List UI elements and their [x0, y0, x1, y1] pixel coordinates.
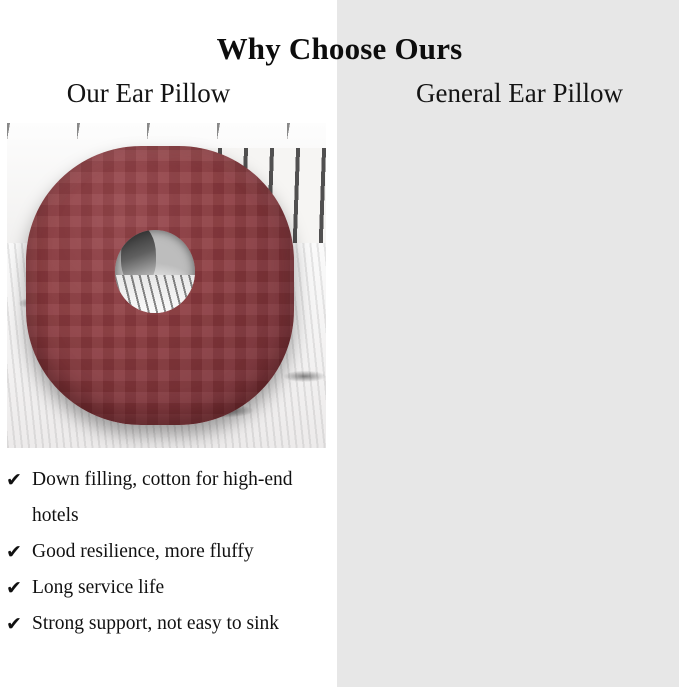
product-photo-ours	[7, 123, 326, 448]
column-heading-ours: Our Ear Pillow	[0, 76, 339, 110]
feature-text: Down filling, cotton for high-end hotels	[32, 462, 312, 534]
column-heading-general: General Ear Pillow	[340, 76, 679, 110]
feature-text: Strong support, not easy to sink	[32, 606, 312, 642]
feature-list-ours: ✔ Down filling, cotton for high-end hote…	[6, 462, 336, 642]
list-item: ✔ Down filling, cotton for high-end hote…	[6, 462, 336, 534]
comparison-column-general: General Ear Pillow ✘ Common cotton filli…	[340, 0, 679, 687]
comparison-column-ours: Our Ear Pillow ✔ Down filling, cotton fo…	[0, 0, 339, 687]
ours-pillow-center-hole	[115, 230, 195, 314]
check-icon: ✔	[6, 462, 32, 498]
page-title: Why Choose Ours	[0, 29, 679, 69]
ours-pillow-body	[26, 146, 294, 426]
list-item: ✔ Good resilience, more fluffy	[6, 534, 336, 570]
list-item: ✔ Strong support, not easy to sink	[6, 606, 336, 642]
list-item: ✔ Long service life	[6, 570, 336, 606]
check-icon: ✔	[6, 534, 32, 570]
feature-text: Long service life	[32, 570, 312, 606]
ours-photo-scene	[7, 123, 326, 448]
check-icon: ✔	[6, 606, 32, 642]
check-icon: ✔	[6, 570, 32, 606]
feature-text: Good resilience, more fluffy	[32, 534, 312, 570]
